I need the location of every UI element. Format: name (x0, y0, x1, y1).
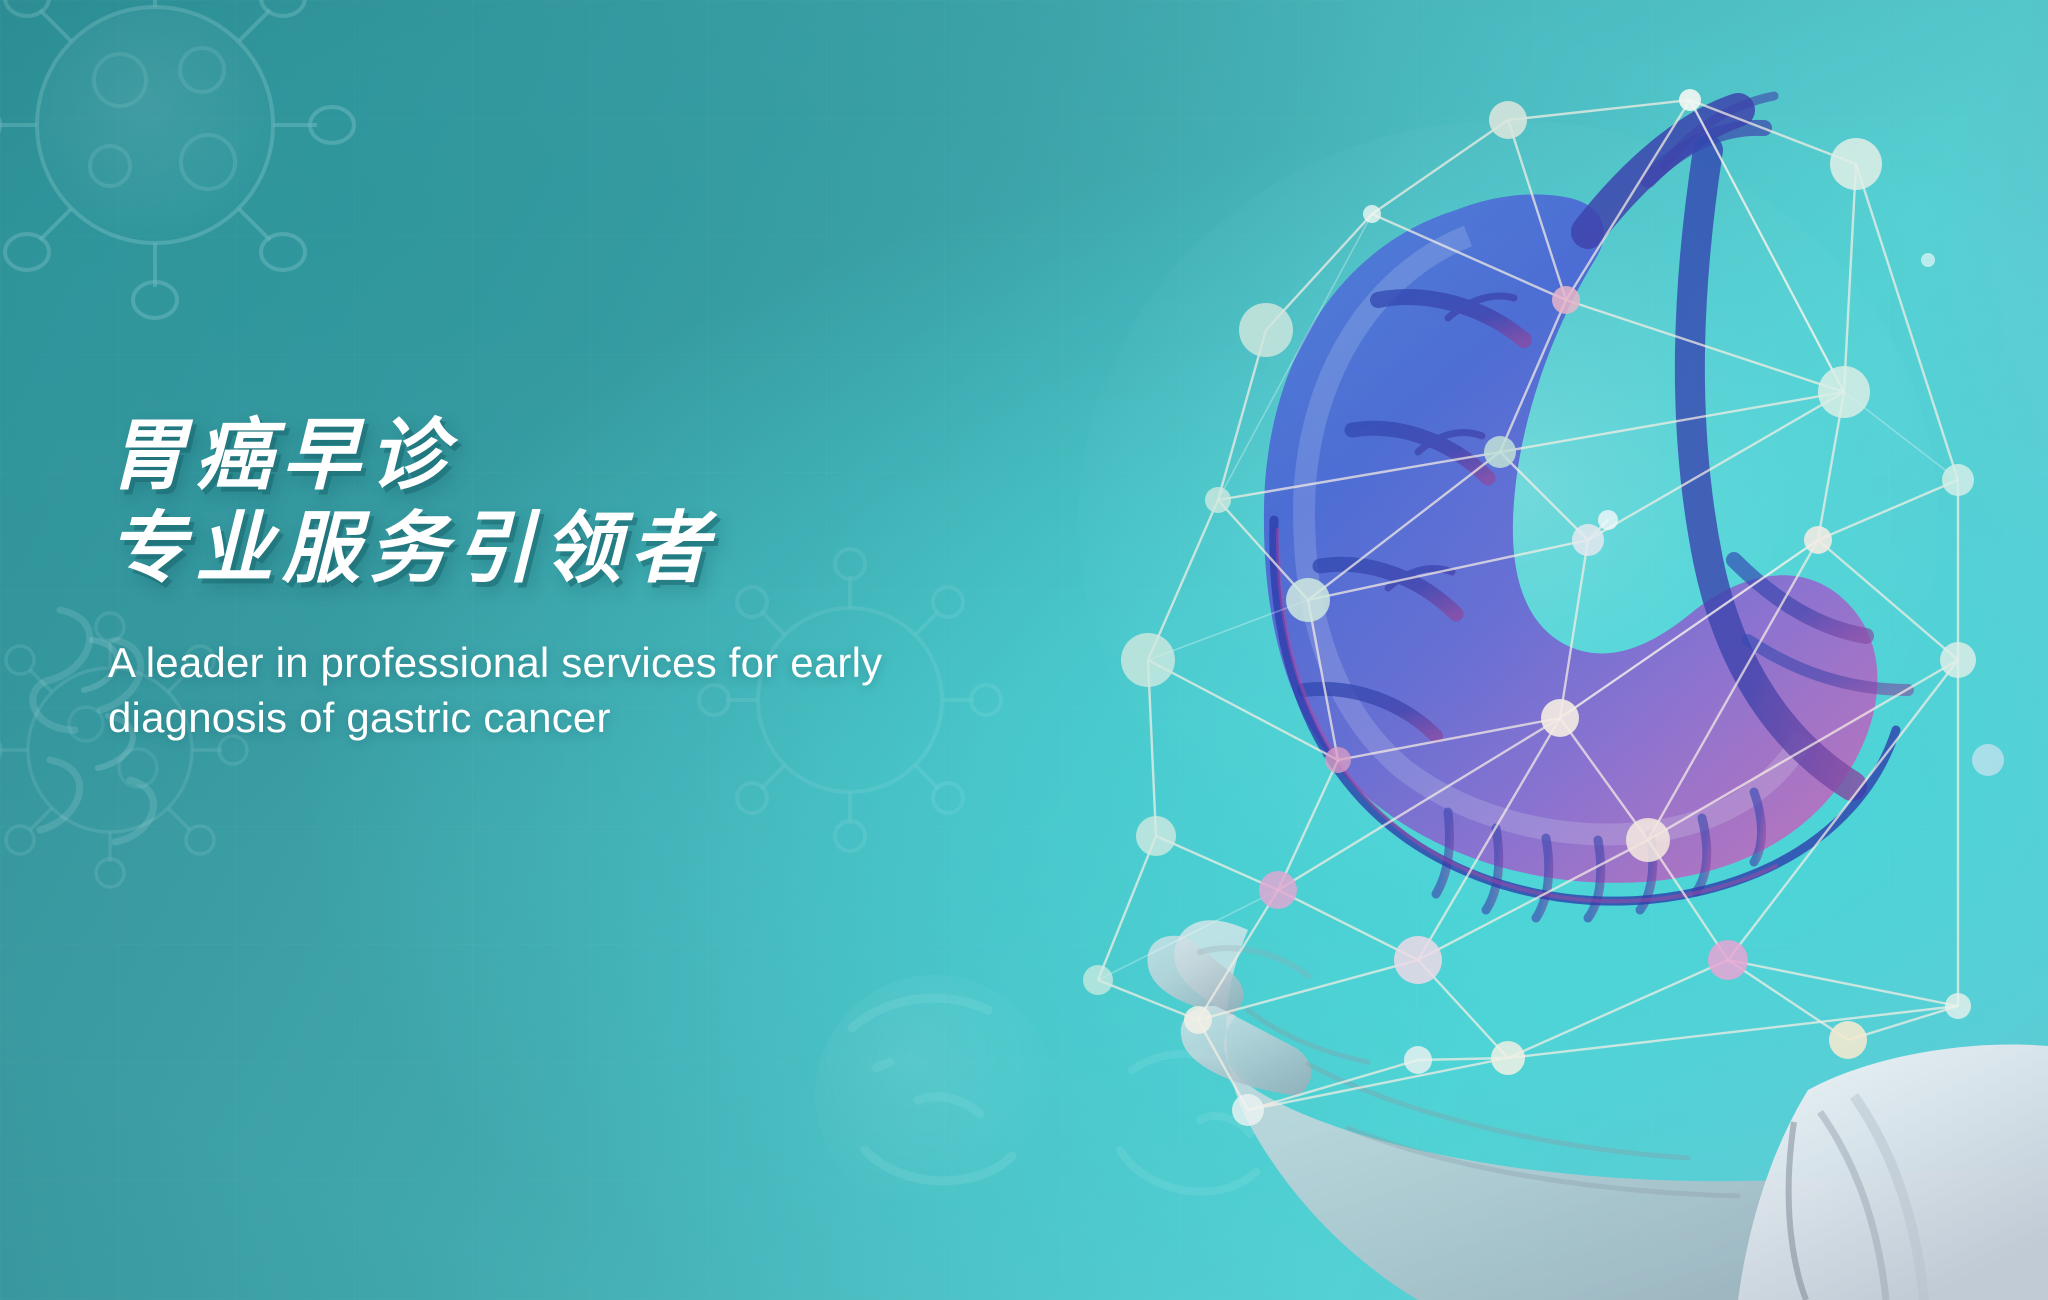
lab-coat-sleeve (1738, 1045, 2048, 1300)
subheadline-line-2: diagnosis of gastric cancer (108, 690, 1118, 745)
subheadline-line-1: A leader in professional services for ea… (108, 635, 1118, 690)
hero-text-block: 胃癌早诊 专业服务引领者 A leader in professional se… (108, 412, 1168, 746)
headline-line-1: 胃癌早诊 (108, 412, 1168, 499)
virus-top-left-icon (0, 0, 370, 330)
subheadline: A leader in professional services for ea… (108, 635, 1118, 746)
headline-line-2: 专业服务引领者 (108, 505, 1168, 592)
hero-banner: 胃癌早诊 专业服务引领者 A leader in professional se… (0, 0, 2048, 1300)
